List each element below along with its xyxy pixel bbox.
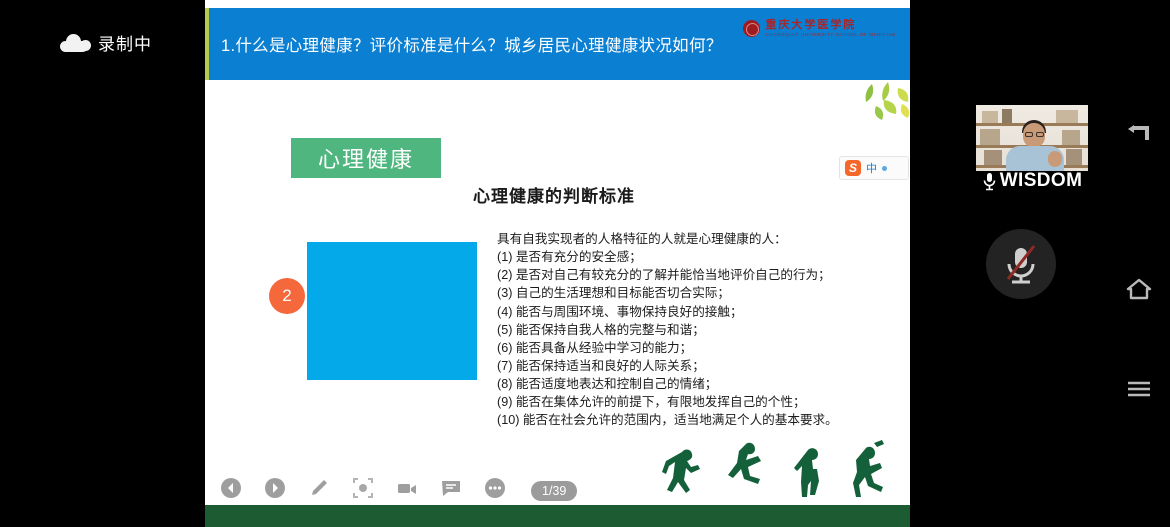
sogou-logo-icon: S: [845, 160, 861, 176]
criteria-intro: 具有自我实现者的人格特征的人就是心理健康的人：: [497, 230, 897, 248]
criteria-item: (2) 是否对自己有较充分的了解并能恰当地评价自己的行为；: [497, 266, 897, 284]
university-name: 重庆大学医学院: [765, 20, 896, 32]
university-subtitle: CHONGQING UNIVERSITY SCHOOL OF MEDICINE: [765, 32, 896, 37]
play-button[interactable]: [263, 476, 286, 499]
criteria-item: (8) 能否适度地表达和控制自己的情绪；: [497, 375, 897, 393]
home-icon[interactable]: [1126, 278, 1152, 305]
webcam-video-tile[interactable]: [976, 105, 1088, 171]
media-placeholder[interactable]: [307, 242, 477, 380]
criteria-item: (7) 能否保持适当和良好的人际关系；: [497, 357, 897, 375]
ime-mode-label[interactable]: 中: [866, 160, 877, 176]
criteria-list: 具有自我实现者的人格特征的人就是心理健康的人： (1) 是否有充分的安全感； (…: [497, 230, 897, 429]
criteria-item: (5) 能否保持自我人格的完整与和谐；: [497, 321, 897, 339]
slide-toolbar[interactable]: [219, 476, 506, 499]
webcam-label-text: WISDOM: [1000, 170, 1083, 192]
slide-footer-bar: [205, 505, 910, 527]
more-options-button[interactable]: [483, 476, 506, 499]
step-badge: 2: [269, 278, 305, 314]
chat-bubble-icon[interactable]: [439, 476, 462, 499]
pen-tool-button[interactable]: [307, 476, 330, 499]
microphone-muted-icon: [1001, 242, 1041, 286]
topic-tag: 心理健康: [291, 138, 441, 178]
video-camera-icon[interactable]: [395, 476, 418, 499]
university-logo: 重庆大学医学院 CHONGQING UNIVERSITY SCHOOL OF M…: [743, 20, 896, 37]
slide-title: 心理健康的判断标准: [473, 182, 635, 207]
ime-indicator[interactable]: S 中: [839, 156, 909, 180]
back-arrow-icon[interactable]: [1126, 122, 1152, 149]
criteria-item: (4) 能否与周围环境、事物保持良好的接触；: [497, 303, 897, 321]
recording-indicator: 录制中: [60, 30, 152, 55]
banner-title: 1.什么是心理健康？评价标准是什么？城乡居民心理健康状况如何？: [209, 32, 723, 56]
topic-tag-label: 心理健康: [318, 142, 414, 174]
university-seal-icon: [743, 20, 760, 37]
slide-viewport[interactable]: 1.什么是心理健康？评价标准是什么？城乡居民心理健康状况如何？ 重庆大学医学院 …: [205, 0, 910, 527]
dot-icon[interactable]: [882, 166, 887, 171]
focus-capture-button[interactable]: [351, 476, 374, 499]
criteria-item: (3) 自己的生活理想和目标能否切合实际；: [497, 284, 897, 302]
recent-apps-icon[interactable]: [1126, 380, 1152, 403]
criteria-item: (1) 是否有充分的安全感；: [497, 248, 897, 266]
recording-label: 录制中: [98, 30, 152, 55]
webcam-label: WISDOM: [962, 170, 1102, 192]
criteria-item: (10) 能否在社会允许的范围内，适当地满足个人的基本要求。: [497, 411, 897, 429]
microphone-icon: [982, 172, 997, 191]
page-indicator: 1/39: [531, 481, 577, 501]
criteria-item: (9) 能否在集体允许的前提下，有限地发挥自己的个性；: [497, 393, 897, 411]
kids-silhouette-decoration: [660, 440, 910, 508]
mute-toggle-button[interactable]: [986, 229, 1056, 299]
criteria-item: (6) 能否具备从经验中学习的能力；: [497, 339, 897, 357]
cloud-icon: [60, 34, 88, 52]
slide-banner: 1.什么是心理健康？评价标准是什么？城乡居民心理健康状况如何？ 重庆大学医学院 …: [205, 8, 910, 80]
foliage-decoration: [780, 82, 910, 124]
previous-slide-button[interactable]: [219, 476, 242, 499]
